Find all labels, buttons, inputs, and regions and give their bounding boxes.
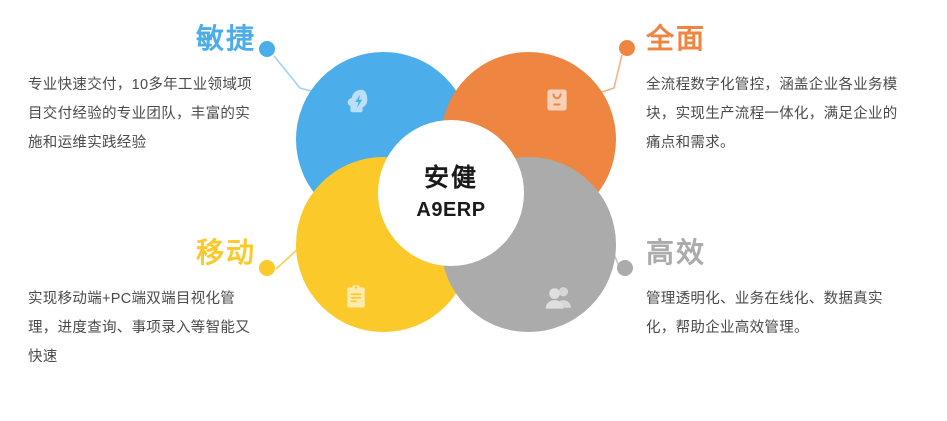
feature-title-agile: 敏捷: [28, 24, 256, 55]
feature-text-agile: 专业快速交付，10多年工业领域项目交付经验的专业团队，丰富的实施和运维实践经验: [28, 71, 264, 158]
center-logo-en: A9ERP: [416, 197, 485, 223]
feature-title-comprehensive: 全面: [646, 24, 914, 55]
feature-block-comprehensive: 全面 全流程数字化管控，涵盖企业各业务模块，实现生产流程一体化，满足企业的痛点和…: [646, 24, 914, 158]
feature-block-mobile: 移动 实现移动端+PC端双端目视化管理，进度查询、事项录入等智能又快速: [28, 238, 296, 372]
infographic-canvas: 安健 A9ERP 敏捷 专业快速交付，10多年工业领域项目交付经验的专业团队，丰…: [0, 0, 947, 421]
box-package-icon: [543, 86, 571, 114]
center-logo: 安健 A9ERP: [378, 120, 524, 266]
feature-text-mobile: 实现移动端+PC端双端目视化管理，进度查询、事项录入等智能又快速: [28, 285, 264, 372]
connector-dot-efficient: [617, 260, 633, 276]
feature-text-comprehensive: 全流程数字化管控，涵盖企业各业务模块，实现生产流程一体化，满足企业的痛点和需求。: [646, 71, 904, 158]
feature-title-efficient: 高效: [646, 238, 914, 269]
center-logo-cn: 安健: [424, 163, 478, 194]
brain-bolt-icon: [342, 86, 372, 116]
clipboard-icon: [342, 283, 370, 311]
flower-diagram: 安健 A9ERP: [296, 52, 616, 332]
connector-dot-comprehensive: [619, 40, 635, 56]
users-icon: [543, 283, 575, 313]
feature-block-efficient: 高效 管理透明化、业务在线化、数据真实化，帮助企业高效管理。: [646, 238, 914, 343]
feature-block-agile: 敏捷 专业快速交付，10多年工业领域项目交付经验的专业团队，丰富的实施和运维实践…: [28, 24, 296, 158]
feature-title-mobile: 移动: [28, 238, 256, 269]
feature-text-efficient: 管理透明化、业务在线化、数据真实化，帮助企业高效管理。: [646, 285, 904, 343]
